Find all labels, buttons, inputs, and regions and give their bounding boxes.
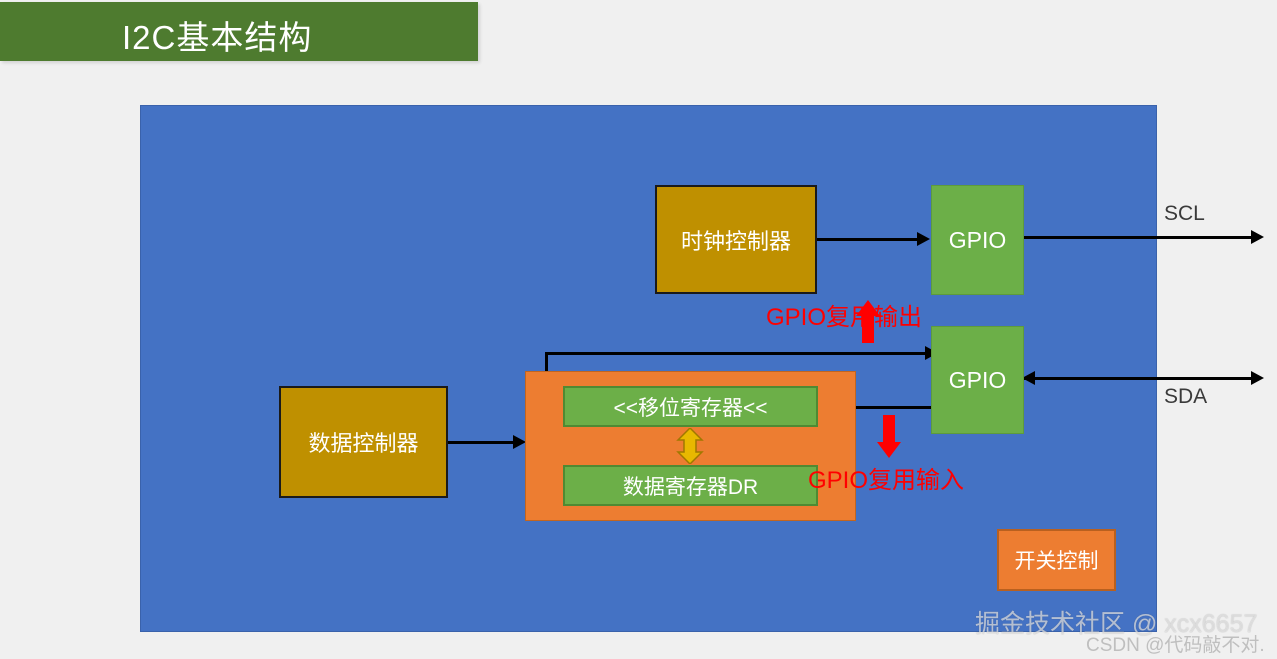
node-shift-register-label: <<移位寄存器<< [613,392,767,422]
node-gpio-sda-label: GPIO [949,367,1007,394]
connector-shift-register-out-run [545,352,927,355]
arrow-head-right-icon [1251,230,1264,244]
annotation-alternate-output: GPIO复用输出 [766,297,922,332]
node-data-controller[interactable]: 数据控制器 [279,386,448,498]
node-shift-register[interactable]: <<移位寄存器<< [563,386,818,427]
node-clock-controller[interactable]: 时钟控制器 [655,185,817,294]
node-gpio-sda[interactable]: GPIO [931,326,1024,434]
connector-gpio-to-scl [1024,236,1253,239]
bidirectional-link-arrow-icon [676,428,704,464]
connector-clock-to-gpio [817,238,919,241]
connector-data-controller-to-registers [448,441,515,444]
bus-label-scl: SCL [1164,202,1205,226]
node-switch-control[interactable]: 开关控制 [997,529,1116,591]
arrow-head-right-icon [1251,371,1264,385]
node-clock-controller-label: 时钟控制器 [681,224,791,256]
bus-label-sda: SDA [1164,385,1207,409]
node-gpio-scl-label: GPIO [949,227,1007,254]
node-gpio-scl[interactable]: GPIO [931,185,1024,295]
node-switch-control-label: 开关控制 [1015,545,1099,575]
title-banner: I2C基本结构 [0,2,478,61]
red-arrow-up-head-icon [856,300,880,316]
arrow-head-right-icon [917,232,930,246]
node-data-register-label: 数据寄存器DR [623,471,758,501]
node-data-controller-label: 数据控制器 [308,426,418,458]
page-title: I2C基本结构 [122,11,312,59]
connector-gpio-to-sda [1024,377,1253,380]
node-data-register[interactable]: 数据寄存器DR [563,465,818,506]
red-arrow-down-head-icon [877,442,901,458]
watermark-csdn: CSDN @代码敲不对. [1086,630,1265,657]
annotation-alternate-input: GPIO复用输入 [808,460,964,495]
